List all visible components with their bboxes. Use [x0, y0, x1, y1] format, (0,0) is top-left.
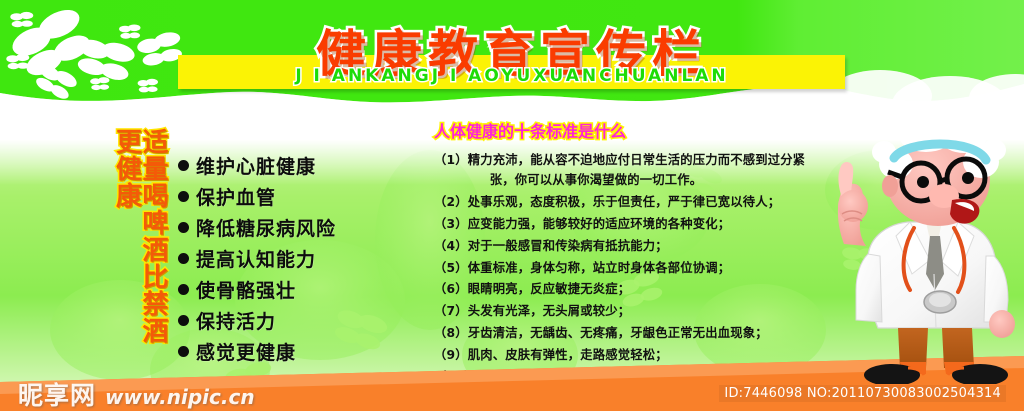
- watermark-brand: 昵享网: [18, 376, 96, 411]
- article-item-text: 眼睛明亮，反应敏捷无炎症；: [468, 280, 834, 300]
- list-item: 保护血管: [178, 183, 408, 210]
- benefits-list: 维护心脏健康 保护血管 降低糖尿病风险 提高认知能力 使骨骼强壮 保持活力 感觉…: [178, 152, 408, 369]
- article-item-number: （2）: [434, 193, 468, 213]
- article-item: （1） 精力充沛，能从容不迫地应付日常生活的压力而不感到过分紧 张，你可以从事你…: [434, 151, 834, 191]
- health-education-poster: 健康教育宣传栏 J I ANKANGJ I AOYUXUANCHUANLAN 适…: [0, 0, 1024, 411]
- article-item-number: （3）: [434, 215, 468, 235]
- article-item-number: （4）: [434, 237, 468, 257]
- benefit-label: 维护心脏健康: [196, 152, 316, 179]
- article-item-text: 体重标准，身体匀称，站立时身体各部位协调；: [468, 259, 834, 279]
- list-item: 保持活力: [178, 307, 408, 334]
- article-item-number: （5）: [434, 259, 468, 279]
- benefit-label: 保护血管: [196, 183, 276, 210]
- article-item: （2） 处事乐观，态度积极，乐于但责任，严于律已宽以待人；: [434, 193, 834, 213]
- list-item: 维护心脏健康: [178, 152, 408, 179]
- list-item: 使骨骼强壮: [178, 276, 408, 303]
- article-title: 人体健康的十条标准是什么: [434, 118, 834, 142]
- bullet-dot-icon: [178, 191, 189, 202]
- article-item: （4） 对于一般感冒和传染病有抵抗能力；: [434, 237, 834, 257]
- article-item-line: 精力充沛，能从容不迫地应付日常生活的压力而不感到过分紧: [468, 153, 805, 167]
- benefit-label: 使骨骼强壮: [196, 276, 296, 303]
- article-item-text: 对于一般感冒和传染病有抵抗能力；: [468, 237, 834, 257]
- watermark: 昵享网 www.nipic.cn: [18, 376, 255, 411]
- article-item-text: 处事乐观，态度积极，乐于但责任，严于律已宽以待人；: [468, 193, 834, 213]
- article-item: （6） 眼睛明亮，反应敏捷无炎症；: [434, 280, 834, 300]
- cartoon-doctor-illustration: [826, 124, 1024, 384]
- article-item-number: （1）: [434, 151, 468, 191]
- article-item-text: 头发有光泽，无头屑或较少；: [468, 302, 834, 322]
- article-item-number: （7）: [434, 302, 468, 322]
- image-id-label: ID:7446098 NO:20110730083002504314: [719, 385, 1006, 402]
- doctor-pointing-arm: [838, 162, 868, 246]
- benefit-label: 降低糖尿病风险: [196, 214, 336, 241]
- article-item: （5） 体重标准，身体匀称，站立时身体各部位协调；: [434, 259, 834, 279]
- benefit-label: 保持活力: [196, 307, 276, 334]
- vertical-slogan: 适量喝啤酒比禁酒更健康: [128, 128, 166, 368]
- list-item: 降低糖尿病风险: [178, 214, 408, 241]
- article-item-text: 应变能力强，能够较好的适应环境的各种变化；: [468, 215, 834, 235]
- article-item: （7） 头发有光泽，无头屑或较少；: [434, 302, 834, 322]
- bullet-dot-icon: [178, 160, 189, 171]
- watermark-url: www.nipic.cn: [105, 385, 255, 409]
- bullet-dot-icon: [178, 284, 189, 295]
- bullet-dot-icon: [178, 222, 189, 233]
- article-item-text: 精力充沛，能从容不迫地应付日常生活的压力而不感到过分紧 张，你可以从事你渴望做的…: [468, 151, 834, 191]
- article-item: （3） 应变能力强，能够较好的适应环境的各种变化；: [434, 215, 834, 235]
- bullet-dot-icon: [178, 253, 189, 264]
- article-item-line-cont: 张，你可以从事你渴望做的一切工作。: [468, 171, 834, 191]
- benefit-label: 提高认知能力: [196, 245, 316, 272]
- poster-title-pinyin: J I ANKANGJ I AOYUXUANCHUANLAN: [0, 66, 1024, 86]
- list-item: 提高认知能力: [178, 245, 408, 272]
- article-item-number: （6）: [434, 280, 468, 300]
- bullet-dot-icon: [178, 315, 189, 326]
